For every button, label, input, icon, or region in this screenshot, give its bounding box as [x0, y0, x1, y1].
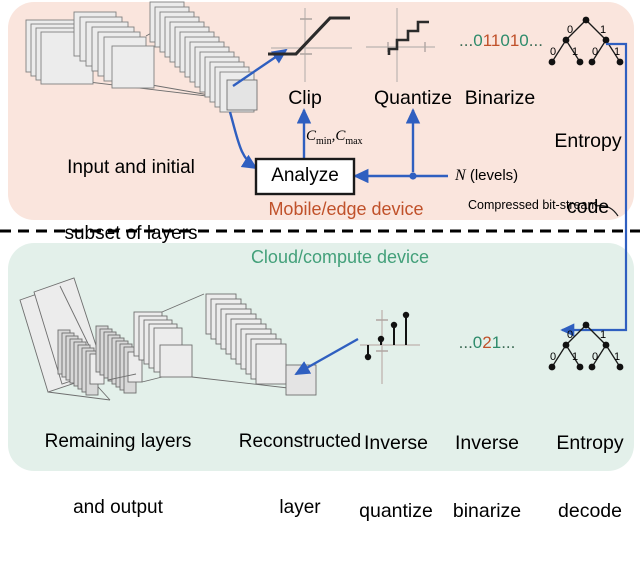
- svg-text:0: 0: [567, 329, 573, 341]
- svg-text:1: 1: [614, 351, 620, 363]
- cloud-compute-device-label: Cloud/compute device: [232, 248, 448, 268]
- stage-label-entropy-decode: Entropy decode: [548, 390, 632, 566]
- entropy-decode-line2: decode: [548, 501, 632, 522]
- figure-canvas: 0 1 0 1 0 1: [0, 0, 640, 476]
- bitstring-digit-1: 1: [483, 31, 491, 50]
- binarize-bitstring: ...011010...: [453, 32, 549, 51]
- bitstring-digit-3: 0: [500, 31, 509, 50]
- symbolstring-digit-2: 1: [492, 333, 501, 352]
- levels-label: N (levels): [455, 167, 518, 185]
- inverse-binarize-line2: binarize: [443, 501, 531, 522]
- svg-text:1: 1: [572, 46, 578, 58]
- inverse-quantize-line2: quantize: [352, 501, 440, 522]
- bottom-network-caption-line2: and output: [12, 498, 224, 519]
- symbolstring-digit-0: 0: [473, 333, 482, 352]
- entropy-code-line1: Entropy: [550, 131, 626, 152]
- bitstring-prefix: ...: [459, 31, 473, 50]
- bitstring-digit-5: 0: [519, 31, 528, 50]
- svg-text:1: 1: [572, 351, 578, 363]
- stage-label-binarize: Binarize: [452, 88, 548, 109]
- top-network-caption-line2: subset of layers: [16, 224, 246, 245]
- levels-symbol: N: [455, 167, 466, 184]
- compressed-bitstream-label: Compressed bit-stream: [468, 199, 598, 213]
- svg-text:0: 0: [567, 24, 573, 36]
- stage-label-clip: Clip: [272, 88, 338, 109]
- svg-text:1: 1: [600, 24, 606, 36]
- svg-text:1: 1: [600, 329, 606, 341]
- svg-text:0: 0: [550, 351, 556, 363]
- clip-params-label: Cmin,Cmax: [306, 128, 363, 147]
- mobile-edge-device-label: Mobile/edge device: [256, 200, 436, 220]
- stage-label-inverse-binarize: Inverse binarize: [443, 390, 531, 566]
- levels-rest: (levels): [466, 167, 519, 184]
- stage-label-entropy-code: Entropy code: [550, 88, 626, 262]
- svg-text:0: 0: [550, 46, 556, 58]
- analyze-box-label: Analyze: [256, 166, 354, 187]
- inverse-binarize-line1: Inverse: [443, 433, 531, 454]
- inverse-quantize-line1: Inverse: [352, 433, 440, 454]
- svg-text:1: 1: [614, 46, 620, 58]
- symbolstring-suffix: ...: [501, 333, 515, 352]
- junction-dot: [409, 172, 416, 179]
- bitstring-digit-4: 1: [510, 31, 519, 50]
- bitstring-suffix: ...: [529, 31, 543, 50]
- split-layer-card: [227, 80, 257, 110]
- svg-text:0: 0: [592, 46, 598, 58]
- entropy-decode-line1: Entropy: [548, 433, 632, 454]
- bottom-network-caption-line1: Remaining layers: [12, 432, 224, 453]
- top-network-caption-line1: Input and initial: [16, 158, 246, 179]
- inverse-binarize-symbolstring: ...021...: [443, 334, 531, 353]
- stage-label-inverse-quantize: Inverse quantize: [352, 390, 440, 566]
- bitstring-digit-0: 0: [473, 31, 482, 50]
- symbolstring-prefix: ...: [459, 333, 473, 352]
- top-network-caption: Input and initial subset of layers: [16, 116, 246, 287]
- symbolstring-digit-1: 2: [482, 333, 491, 352]
- svg-text:0: 0: [592, 351, 598, 363]
- bitstring-digit-2: 1: [491, 31, 500, 50]
